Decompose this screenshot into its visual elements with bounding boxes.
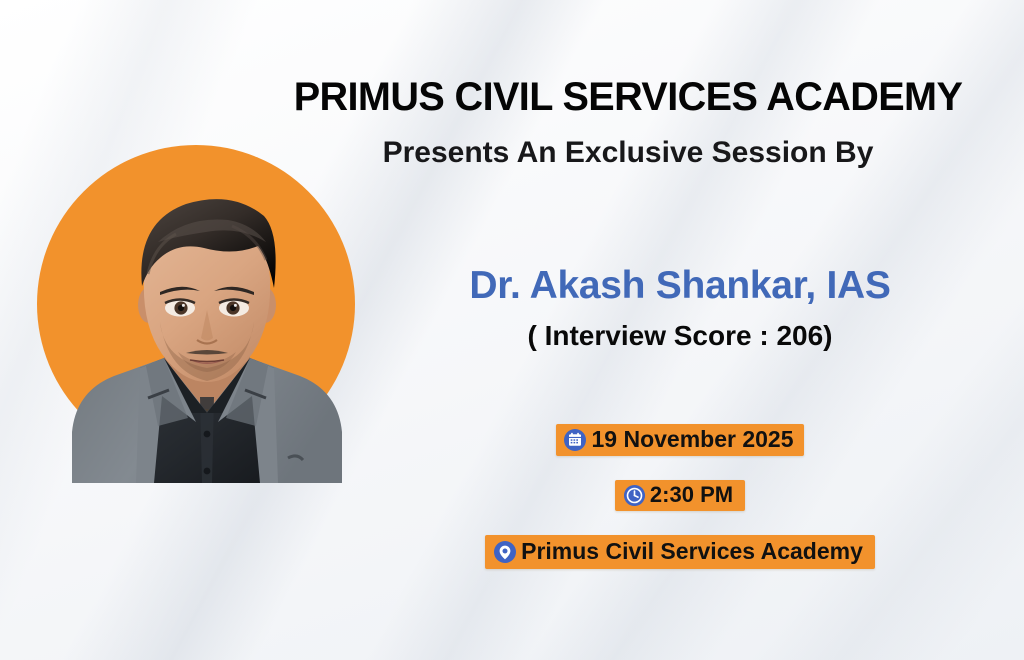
clock-icon: [623, 484, 646, 507]
speaker-photo-block: [22, 140, 394, 490]
event-poster: PRIMUS CIVIL SERVICES ACADEMY Presents A…: [0, 0, 1024, 660]
speaker-portrait-photo: [36, 182, 378, 483]
event-venue-badge: Primus Civil Services Academy: [485, 535, 875, 569]
event-venue-label: Primus Civil Services Academy: [521, 538, 863, 565]
speaker-name: Dr. Akash Shankar, IAS: [400, 264, 960, 308]
event-details-list: 19 November 2025 2:30 PM: [400, 424, 960, 569]
event-time-badge: 2:30 PM: [615, 480, 745, 511]
event-time-label: 2:30 PM: [650, 482, 733, 508]
presents-subtitle: Presents An Exclusive Session By: [258, 136, 998, 170]
event-date-label: 19 November 2025: [591, 426, 793, 453]
calendar-icon: [563, 428, 587, 452]
location-pin-icon: [493, 540, 517, 564]
event-date-badge: 19 November 2025: [556, 424, 803, 456]
academy-title: PRIMUS CIVIL SERVICES ACADEMY: [262, 75, 995, 120]
speaker-interview-score: ( Interview Score : 206): [400, 320, 960, 352]
